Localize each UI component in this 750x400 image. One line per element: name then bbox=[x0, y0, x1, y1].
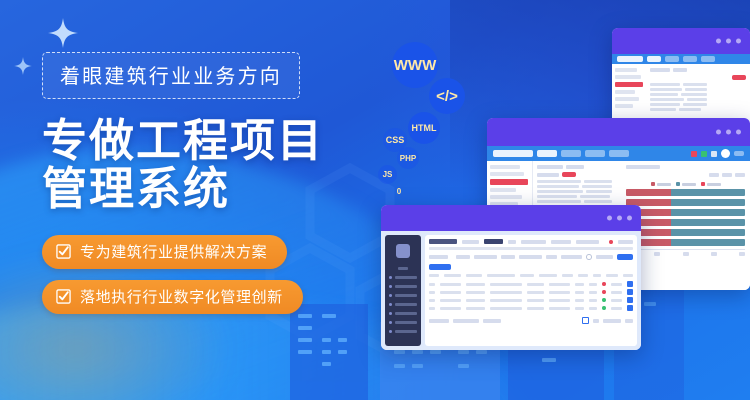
copy-block: 着眼建筑行业业务方向 专做工程项目 管理系统 专为建筑行业提供解决方案 落地执行… bbox=[42, 52, 372, 325]
avatar[interactable] bbox=[721, 149, 730, 158]
dashboard-content bbox=[425, 235, 637, 346]
subtitle-box: 着眼建筑行业业务方向 bbox=[42, 52, 300, 99]
sidebar-item[interactable] bbox=[385, 309, 421, 318]
nav-tab[interactable] bbox=[561, 150, 581, 157]
nav-tab[interactable] bbox=[585, 150, 605, 157]
feature-badge-1-label: 专为建筑行业提供解决方案 bbox=[80, 241, 267, 262]
row-action-icon[interactable] bbox=[627, 297, 633, 303]
tech-bubble-js: JS bbox=[378, 165, 397, 184]
feature-badge-2[interactable]: 落地执行行业数字化管理创新 bbox=[42, 280, 303, 314]
nav-tab[interactable] bbox=[537, 150, 557, 157]
window-controls[interactable] bbox=[607, 216, 632, 221]
chart-bar bbox=[626, 209, 745, 216]
nav-tab[interactable] bbox=[609, 150, 629, 157]
window-controls[interactable] bbox=[716, 130, 741, 135]
dashboard-nav-bar[interactable] bbox=[487, 146, 750, 161]
settings-icon[interactable] bbox=[711, 151, 717, 157]
sidebar-item[interactable] bbox=[385, 282, 421, 291]
check-box-icon bbox=[56, 244, 71, 259]
legend-item-1 bbox=[676, 182, 696, 186]
promo-banner: 着眼建筑行业业务方向 专做工程项目 管理系统 专为建筑行业提供解决方案 落地执行… bbox=[0, 0, 750, 400]
chart-legend bbox=[626, 182, 745, 186]
row-action-icon[interactable] bbox=[627, 289, 633, 295]
search-button[interactable] bbox=[617, 254, 633, 260]
sidebar-item[interactable] bbox=[385, 291, 421, 300]
chart-bar bbox=[626, 239, 745, 246]
headline-line-2: 管理系统 bbox=[42, 165, 372, 213]
chart-bar bbox=[626, 219, 745, 226]
chart-x-axis bbox=[626, 249, 745, 250]
tech-bubble-php: PHP bbox=[397, 147, 419, 169]
legend-item-0 bbox=[651, 182, 671, 186]
username-label bbox=[734, 151, 744, 156]
table-row[interactable] bbox=[429, 305, 633, 311]
sparkle-large-icon bbox=[48, 18, 78, 48]
sidebar-item[interactable] bbox=[385, 327, 421, 336]
tech-bubble-zero: 0 bbox=[392, 184, 406, 198]
headline-line-1: 专做工程项目 bbox=[42, 117, 372, 165]
tech-bubble-html-label: HTML bbox=[412, 123, 437, 133]
search-icon[interactable] bbox=[586, 254, 592, 260]
pagination-page-1[interactable] bbox=[582, 317, 589, 324]
subtitle-text: 着眼建筑行业业务方向 bbox=[60, 60, 282, 89]
feature-badge-1[interactable]: 专为建筑行业提供解决方案 bbox=[42, 235, 287, 269]
check-box-icon bbox=[56, 289, 71, 304]
dashboard-title-bar bbox=[381, 205, 641, 231]
table-row[interactable] bbox=[429, 297, 633, 303]
feature-badge-2-label: 落地执行行业数字化管理创新 bbox=[80, 286, 283, 307]
notification-icon[interactable] bbox=[691, 151, 697, 157]
nav-logo bbox=[493, 150, 533, 157]
tech-bubble-www-label: WWW bbox=[394, 57, 436, 74]
row-action-icon[interactable] bbox=[627, 305, 633, 311]
nav-tab[interactable] bbox=[683, 56, 697, 62]
table-row[interactable] bbox=[429, 281, 633, 287]
tech-bubble-www: WWW bbox=[392, 42, 438, 88]
app-logo-icon bbox=[396, 244, 410, 258]
tech-bubble-html: HTML bbox=[408, 112, 440, 144]
dashboard-title-bar bbox=[487, 118, 750, 146]
sidebar-item[interactable] bbox=[385, 318, 421, 327]
legend-item-2 bbox=[701, 182, 721, 186]
page-title: 专做工程项目 管理系统 bbox=[42, 117, 372, 213]
table-action-button[interactable] bbox=[562, 172, 576, 177]
sidebar-item[interactable] bbox=[385, 300, 421, 309]
window-controls[interactable] bbox=[716, 39, 741, 44]
dashboard-title-bar bbox=[612, 28, 750, 54]
dashboard-nav-bar[interactable] bbox=[612, 54, 750, 64]
tech-bubble-php-label: PHP bbox=[400, 154, 416, 163]
tech-bubble-zero-label: 0 bbox=[397, 187, 401, 196]
dashboard-body bbox=[381, 231, 641, 350]
bar-chart bbox=[626, 189, 745, 256]
tech-bubble-css-label: CSS bbox=[386, 135, 405, 145]
row-action-icon[interactable] bbox=[627, 281, 633, 287]
message-icon[interactable] bbox=[701, 151, 707, 157]
dashboard-sidebar[interactable] bbox=[385, 235, 421, 346]
nav-tab[interactable] bbox=[647, 56, 661, 62]
sidebar-item[interactable] bbox=[385, 273, 421, 282]
nav-tab[interactable] bbox=[665, 56, 679, 62]
nav-tab[interactable] bbox=[701, 56, 715, 62]
sidebar-item[interactable] bbox=[385, 264, 421, 273]
chart-bar bbox=[626, 199, 745, 206]
tech-bubble-code-label: </> bbox=[436, 88, 458, 105]
add-button[interactable] bbox=[429, 264, 451, 270]
badge-list: 专为建筑行业提供解决方案 落地执行行业数字化管理创新 bbox=[42, 235, 372, 314]
primary-action-button[interactable] bbox=[732, 75, 746, 80]
nav-logo bbox=[617, 56, 643, 62]
chart-bar bbox=[626, 189, 745, 196]
chart-bar bbox=[626, 229, 745, 236]
tech-bubble-js-label: JS bbox=[383, 170, 393, 179]
dashboard-front[interactable] bbox=[381, 205, 641, 350]
table-row[interactable] bbox=[429, 289, 633, 295]
tech-bubble-code: </> bbox=[429, 78, 465, 114]
sparkle-small-icon bbox=[14, 57, 32, 75]
notification-badge[interactable] bbox=[609, 240, 613, 244]
